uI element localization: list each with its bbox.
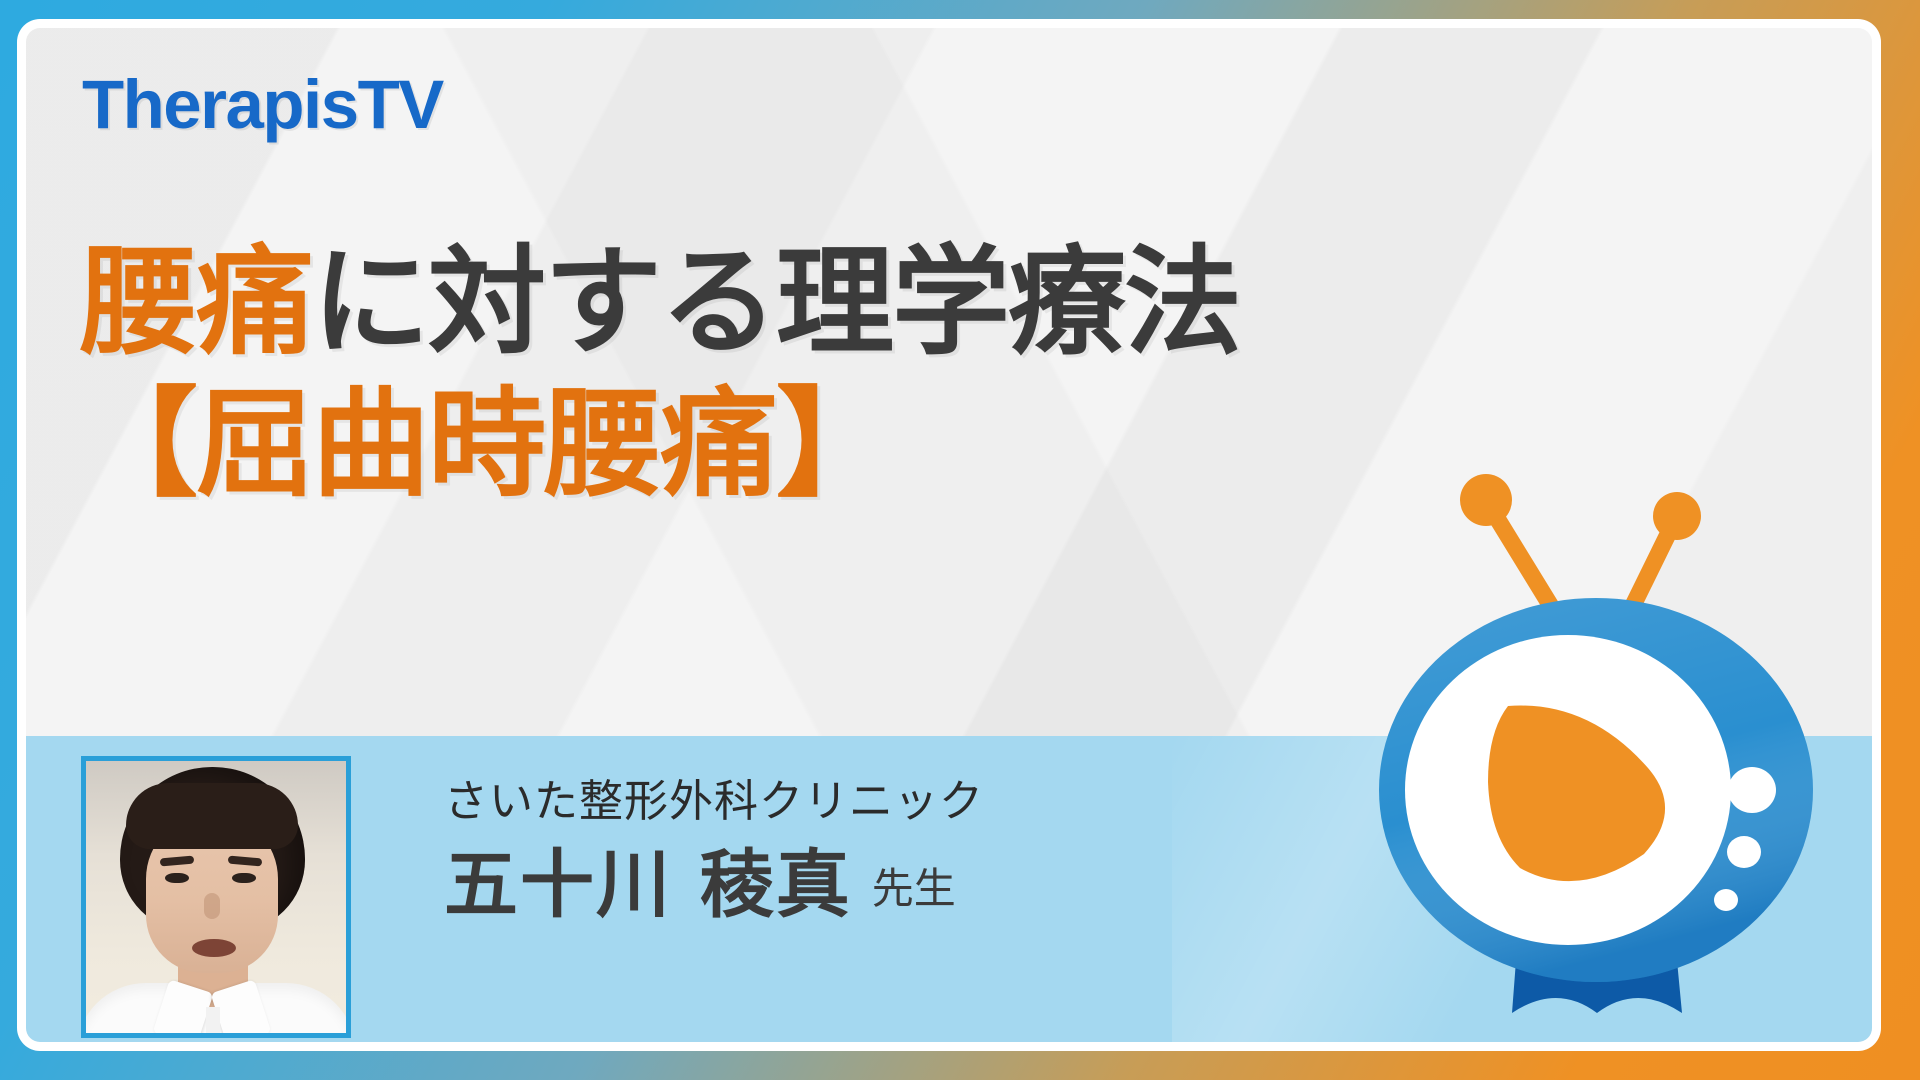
photo-fringe xyxy=(126,783,298,849)
dial-dot-3 xyxy=(1714,889,1738,911)
title-line-2: 【屈曲時腰痛】 xyxy=(80,385,1380,503)
dial-dot-2 xyxy=(1727,836,1761,868)
presenter-honorific: 先生 xyxy=(872,855,956,922)
tv-mascot-icon xyxy=(1372,438,1842,1042)
presenter-name: 五十川 稜真 xyxy=(444,848,852,922)
photo-mouth xyxy=(192,939,236,957)
video-thumbnail: TherapisTV 腰痛に対する理学療法 【屈曲時腰痛】 xyxy=(0,0,1920,1080)
presenter-photo xyxy=(81,756,351,1038)
presenter-row: 五十川 稜真 先生 xyxy=(444,848,984,922)
clinic-name: さいた整形外科クリニック xyxy=(444,778,984,826)
brand-wordmark: TherapisTV xyxy=(82,70,443,139)
photo-nose xyxy=(204,893,220,919)
title-line-1: 腰痛に対する理学療法 xyxy=(80,243,1380,361)
title-rest-text: に対する理学療法 xyxy=(312,233,1240,371)
photo-eye-left xyxy=(165,873,189,883)
photo-shirt-placket xyxy=(206,1007,220,1038)
title-accent-text: 腰痛 xyxy=(80,233,312,371)
thumbnail-card: TherapisTV 腰痛に対する理学療法 【屈曲時腰痛】 xyxy=(26,28,1872,1042)
title-block: 腰痛に対する理学療法 【屈曲時腰痛】 xyxy=(80,243,1380,503)
photo-eye-right xyxy=(232,873,256,883)
dial-dot-1 xyxy=(1728,767,1776,813)
speaker-text: さいた整形外科クリニック 五十川 稜真 先生 xyxy=(444,778,984,922)
